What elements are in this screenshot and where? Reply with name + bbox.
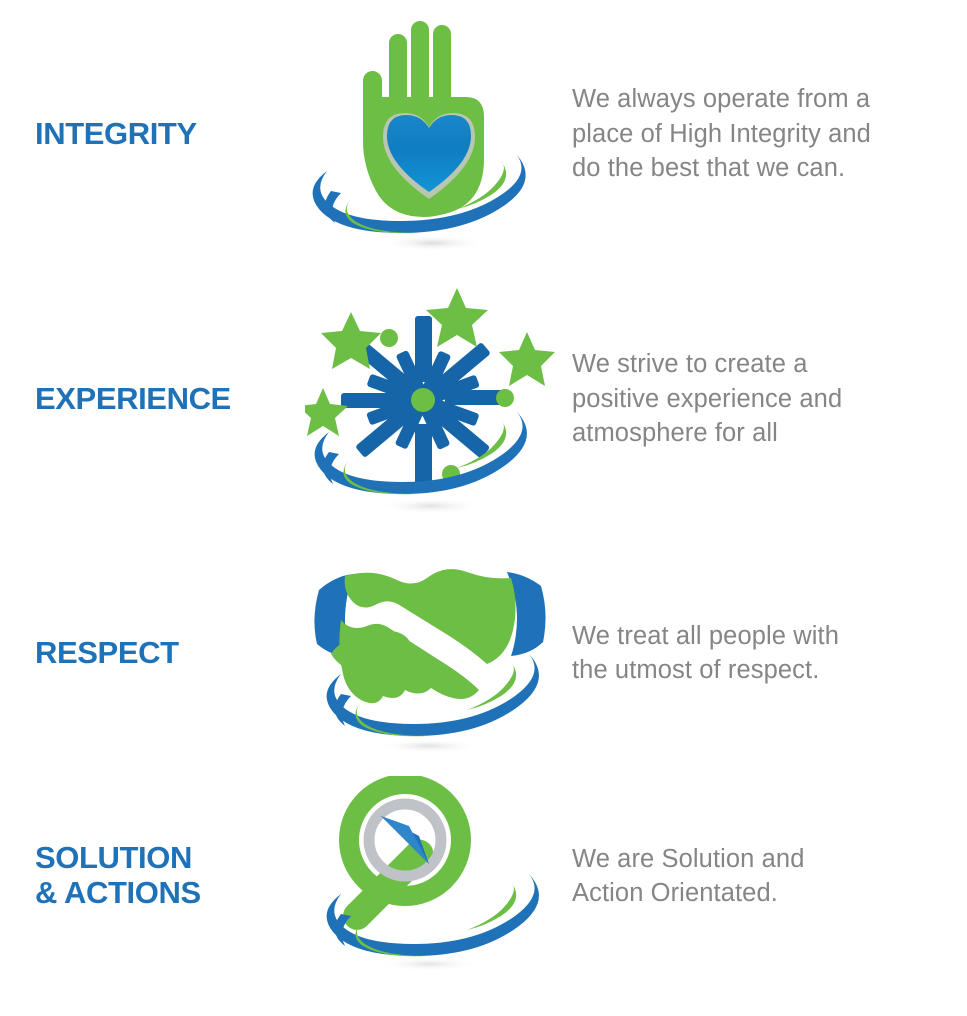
magnifier-compass-icon [290, 776, 570, 976]
value-description-respect: We treat all people with the utmost of r… [570, 619, 967, 688]
value-row-solution-actions: SOLUTION & ACTIONS [0, 776, 967, 976]
value-label-experience: EXPERIENCE [0, 382, 290, 417]
value-description-experience: We strive to create a positive experienc… [570, 347, 967, 450]
description-line: We treat all people with [572, 619, 967, 653]
description-line: do the best that we can. [572, 151, 967, 185]
value-description-integrity: We always operate from a place of High I… [570, 82, 967, 185]
value-label-line: EXPERIENCE [35, 382, 290, 417]
core-values-board: INTEGRITY [0, 0, 967, 1016]
value-label-line: INTEGRITY [35, 117, 290, 152]
value-description-solution-actions: We are Solution and Action Orientated. [570, 842, 967, 911]
description-line: place of High Integrity and [572, 117, 967, 151]
description-line: We are Solution and [572, 842, 967, 876]
description-line: We always operate from a [572, 82, 967, 116]
description-line: We strive to create a [572, 347, 967, 381]
value-label-line: & ACTIONS [35, 876, 290, 911]
value-label-integrity: INTEGRITY [0, 117, 290, 152]
value-row-experience: EXPERIENCE [0, 268, 967, 530]
description-line: atmosphere for all [572, 416, 967, 450]
value-label-line: RESPECT [35, 636, 290, 671]
value-label-solution-actions: SOLUTION & ACTIONS [0, 841, 290, 910]
description-line: the utmost of respect. [572, 653, 967, 687]
value-row-integrity: INTEGRITY [0, 0, 967, 268]
description-line: Action Orientated. [572, 876, 967, 910]
description-line: positive experience and [572, 382, 967, 416]
value-label-line: SOLUTION [35, 841, 290, 876]
value-label-respect: RESPECT [0, 636, 290, 671]
hand-with-heart-icon [290, 9, 570, 259]
firework-burst-icon [290, 274, 570, 524]
value-row-respect: RESPECT [0, 530, 967, 776]
handshake-icon [290, 546, 570, 761]
